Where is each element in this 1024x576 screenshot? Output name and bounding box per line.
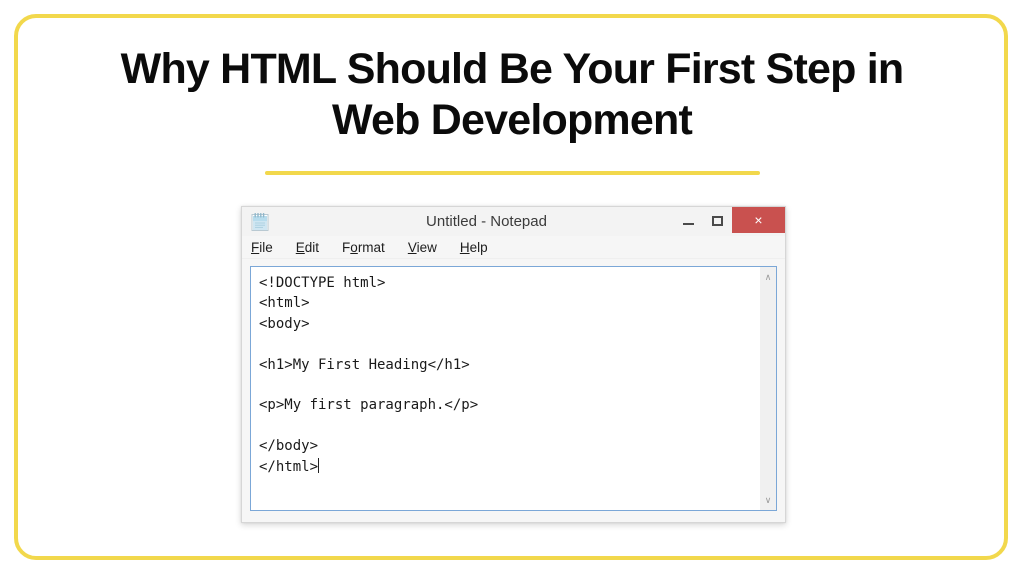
title-underline-rule [265, 171, 760, 175]
notepad-menubar: File Edit Format View Help [242, 236, 785, 259]
heading-block: Why HTML Should Be Your First Step in We… [52, 44, 972, 146]
menu-item-help[interactable]: Help [460, 240, 488, 255]
editor-code: <!DOCTYPE html> <html> <body> <h1>My Fir… [259, 275, 478, 475]
maximize-icon [712, 216, 723, 226]
maximize-button[interactable] [703, 207, 732, 234]
menu-item-view[interactable]: View [408, 240, 437, 255]
notepad-icon [251, 212, 270, 232]
editor-vertical-scrollbar[interactable]: ∧ ∨ [759, 267, 776, 510]
scrollbar-track[interactable] [760, 285, 777, 492]
minimize-icon [683, 223, 694, 225]
minimize-button[interactable] [674, 207, 703, 234]
text-caret [318, 458, 319, 473]
slide-canvas: Why HTML Should Be Your First Step in We… [0, 0, 1024, 576]
window-controls: × [674, 207, 785, 234]
scrollbar-up-arrow-icon[interactable]: ∧ [760, 269, 777, 285]
page-title-line-1: Why HTML Should Be Your First Step in [121, 45, 904, 93]
page-title: Why HTML Should Be Your First Step in We… [52, 44, 972, 146]
close-icon: × [754, 213, 762, 227]
notepad-editor-area[interactable]: <!DOCTYPE html> <html> <body> <h1>My Fir… [250, 266, 777, 511]
menu-item-edit[interactable]: Edit [296, 240, 319, 255]
editor-text-content[interactable]: <!DOCTYPE html> <html> <body> <h1>My Fir… [251, 267, 759, 510]
page-title-line-2: Web Development [332, 96, 692, 144]
scrollbar-down-arrow-icon[interactable]: ∨ [760, 492, 777, 508]
notepad-titlebar[interactable]: Untitled - Notepad × [242, 207, 785, 236]
notepad-window[interactable]: Untitled - Notepad × File Edit Format Vi… [241, 206, 786, 523]
menu-item-format[interactable]: Format [342, 240, 385, 255]
menu-item-file[interactable]: File [251, 240, 273, 255]
close-button[interactable]: × [732, 207, 785, 233]
